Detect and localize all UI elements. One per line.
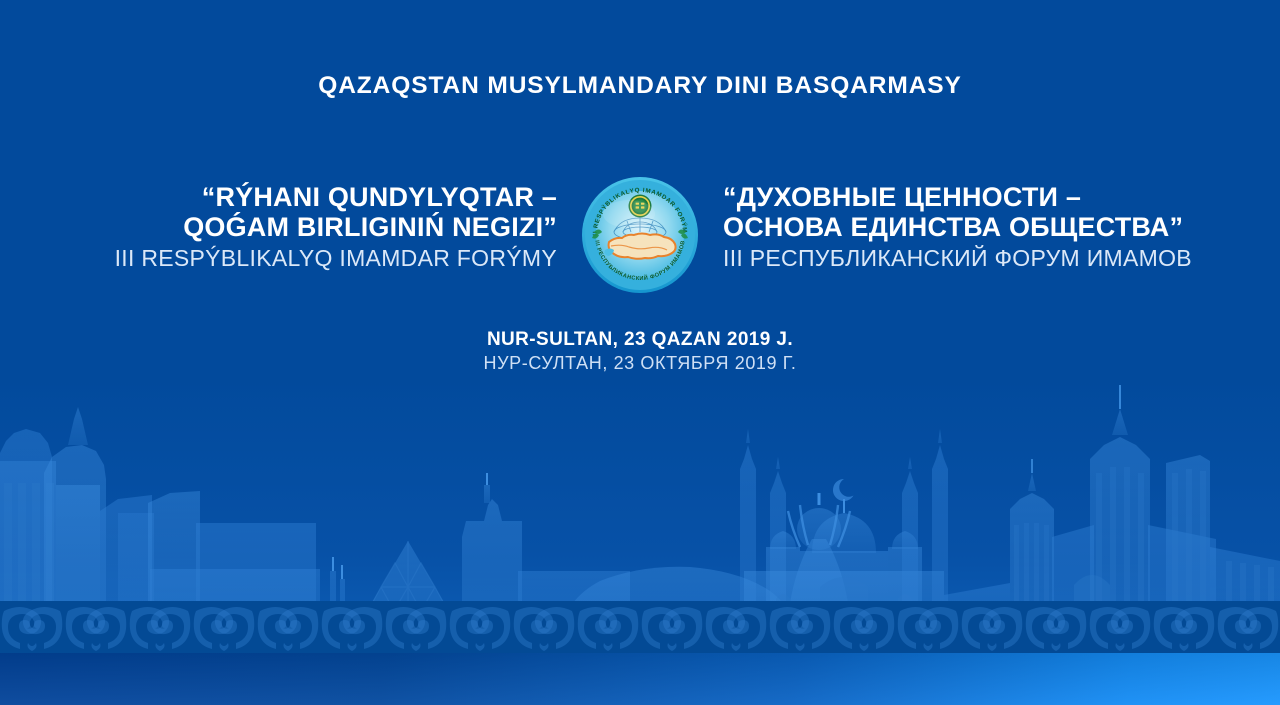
- landmark-government-dome: [44, 407, 106, 633]
- forum-emblem: III RESPÝBLIKALYQ IMAMDAR FORÝMY III РЕС…: [581, 176, 699, 294]
- kazakh-subtitle: III RESPÝBLIKALYQ IMAMDAR FORÝMY: [77, 245, 557, 272]
- crescent-icon: [833, 479, 854, 501]
- event-dates: NUR-SULTAN, 23 QAZAN 2019 J. НУР-СУЛТАН,…: [0, 328, 1280, 375]
- title-row: “RÝHANI QUNDYLYQTAR – QOǴAM BIRLIGINIŃ N…: [0, 182, 1280, 292]
- astana-skyline-silhouette: [0, 333, 1280, 633]
- kazakh-title-block: “RÝHANI QUNDYLYQTAR – QOǴAM BIRLIGINIŃ N…: [77, 182, 581, 272]
- landmark-triumph-of-astana: [1010, 385, 1280, 633]
- bottom-accent-strip: [0, 653, 1280, 705]
- date-kazakh: NUR-SULTAN, 23 QAZAN 2019 J.: [0, 328, 1280, 351]
- russian-subtitle: III РЕСПУБЛИКАНСКИЙ ФОРУМ ИМАМОВ: [723, 245, 1203, 272]
- russian-title: “ДУХОВНЫЕ ЦЕННОСТИ – ОСНОВА ЕДИНСТВА ОБЩ…: [723, 182, 1203, 242]
- kazakh-ornament-band: [0, 601, 1280, 653]
- poster-canvas: QAZAQSTAN MUSYLMANDARY DINI BASQARMASY “…: [0, 0, 1280, 705]
- organization-header: QAZAQSTAN MUSYLMANDARY DINI BASQARMASY: [0, 72, 1280, 100]
- russian-title-block: “ДУХОВНЫЕ ЦЕННОСТИ – ОСНОВА ЕДИНСТВА ОБЩ…: [699, 182, 1203, 272]
- kazakh-title: “RÝHANI QUNDYLYQTAR – QOǴAM BIRLIGINIŃ N…: [77, 182, 557, 242]
- date-russian: НУР-СУЛТАН, 23 ОКТЯБРЯ 2019 Г.: [0, 352, 1280, 375]
